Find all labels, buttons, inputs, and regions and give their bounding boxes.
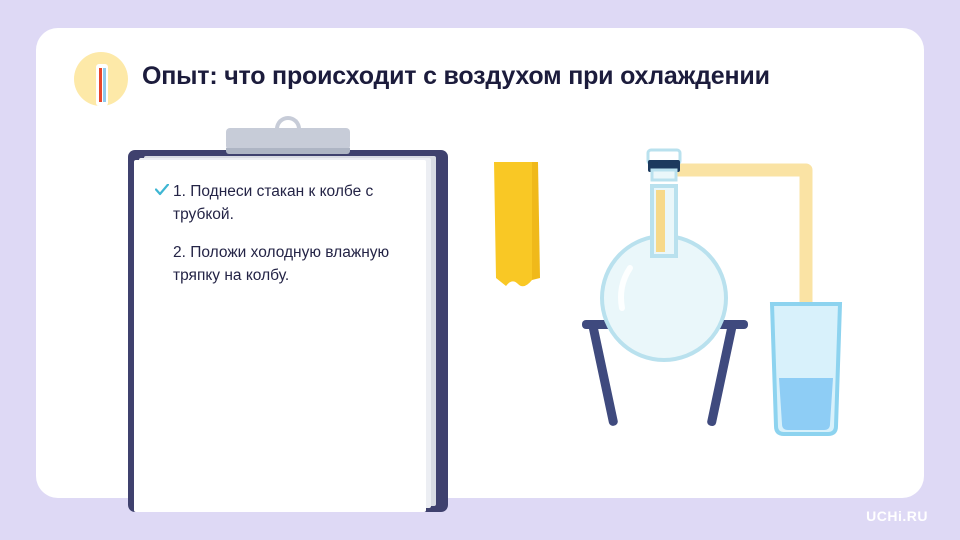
beaker-with-water: [772, 304, 840, 434]
paper-sheet-front: 1. Поднеси стакан к колбе с трубкой. 2. …: [134, 160, 426, 512]
header: Опыт: что происходит с воздухом при охла…: [74, 46, 894, 110]
clipboard-clamp-shadow: [226, 148, 350, 154]
page-title: Опыт: что происходит с воздухом при охла…: [142, 62, 770, 91]
experiment-illustration: [556, 108, 936, 448]
brand-logo: UCHi.RU: [866, 508, 928, 524]
list-item-text: 2. Положи холодную влажную тряпку на кол…: [173, 244, 389, 284]
slide: Опыт: что происходит с воздухом при охла…: [0, 0, 960, 540]
list-item: 2. Положи холодную влажную тряпку на кол…: [158, 241, 430, 288]
content-card: Опыт: что происходит с воздухом при охла…: [36, 28, 924, 498]
instruction-list: 1. Поднеси стакан к колбе с трубкой. 2. …: [158, 180, 430, 301]
check-icon: [155, 184, 169, 196]
header-badge: [74, 52, 128, 106]
round-bottom-flask: [602, 150, 726, 360]
yellow-rag: [488, 160, 548, 320]
list-item: 1. Поднеси стакан к колбе с трубкой.: [158, 180, 430, 227]
list-item-text: 1. Поднеси стакан к колбе с трубкой.: [173, 183, 373, 223]
thermometer-icon: [96, 64, 108, 106]
clipboard: 1. Поднеси стакан к колбе с трубкой. 2. …: [128, 150, 448, 512]
clipboard-ring: [275, 116, 301, 136]
